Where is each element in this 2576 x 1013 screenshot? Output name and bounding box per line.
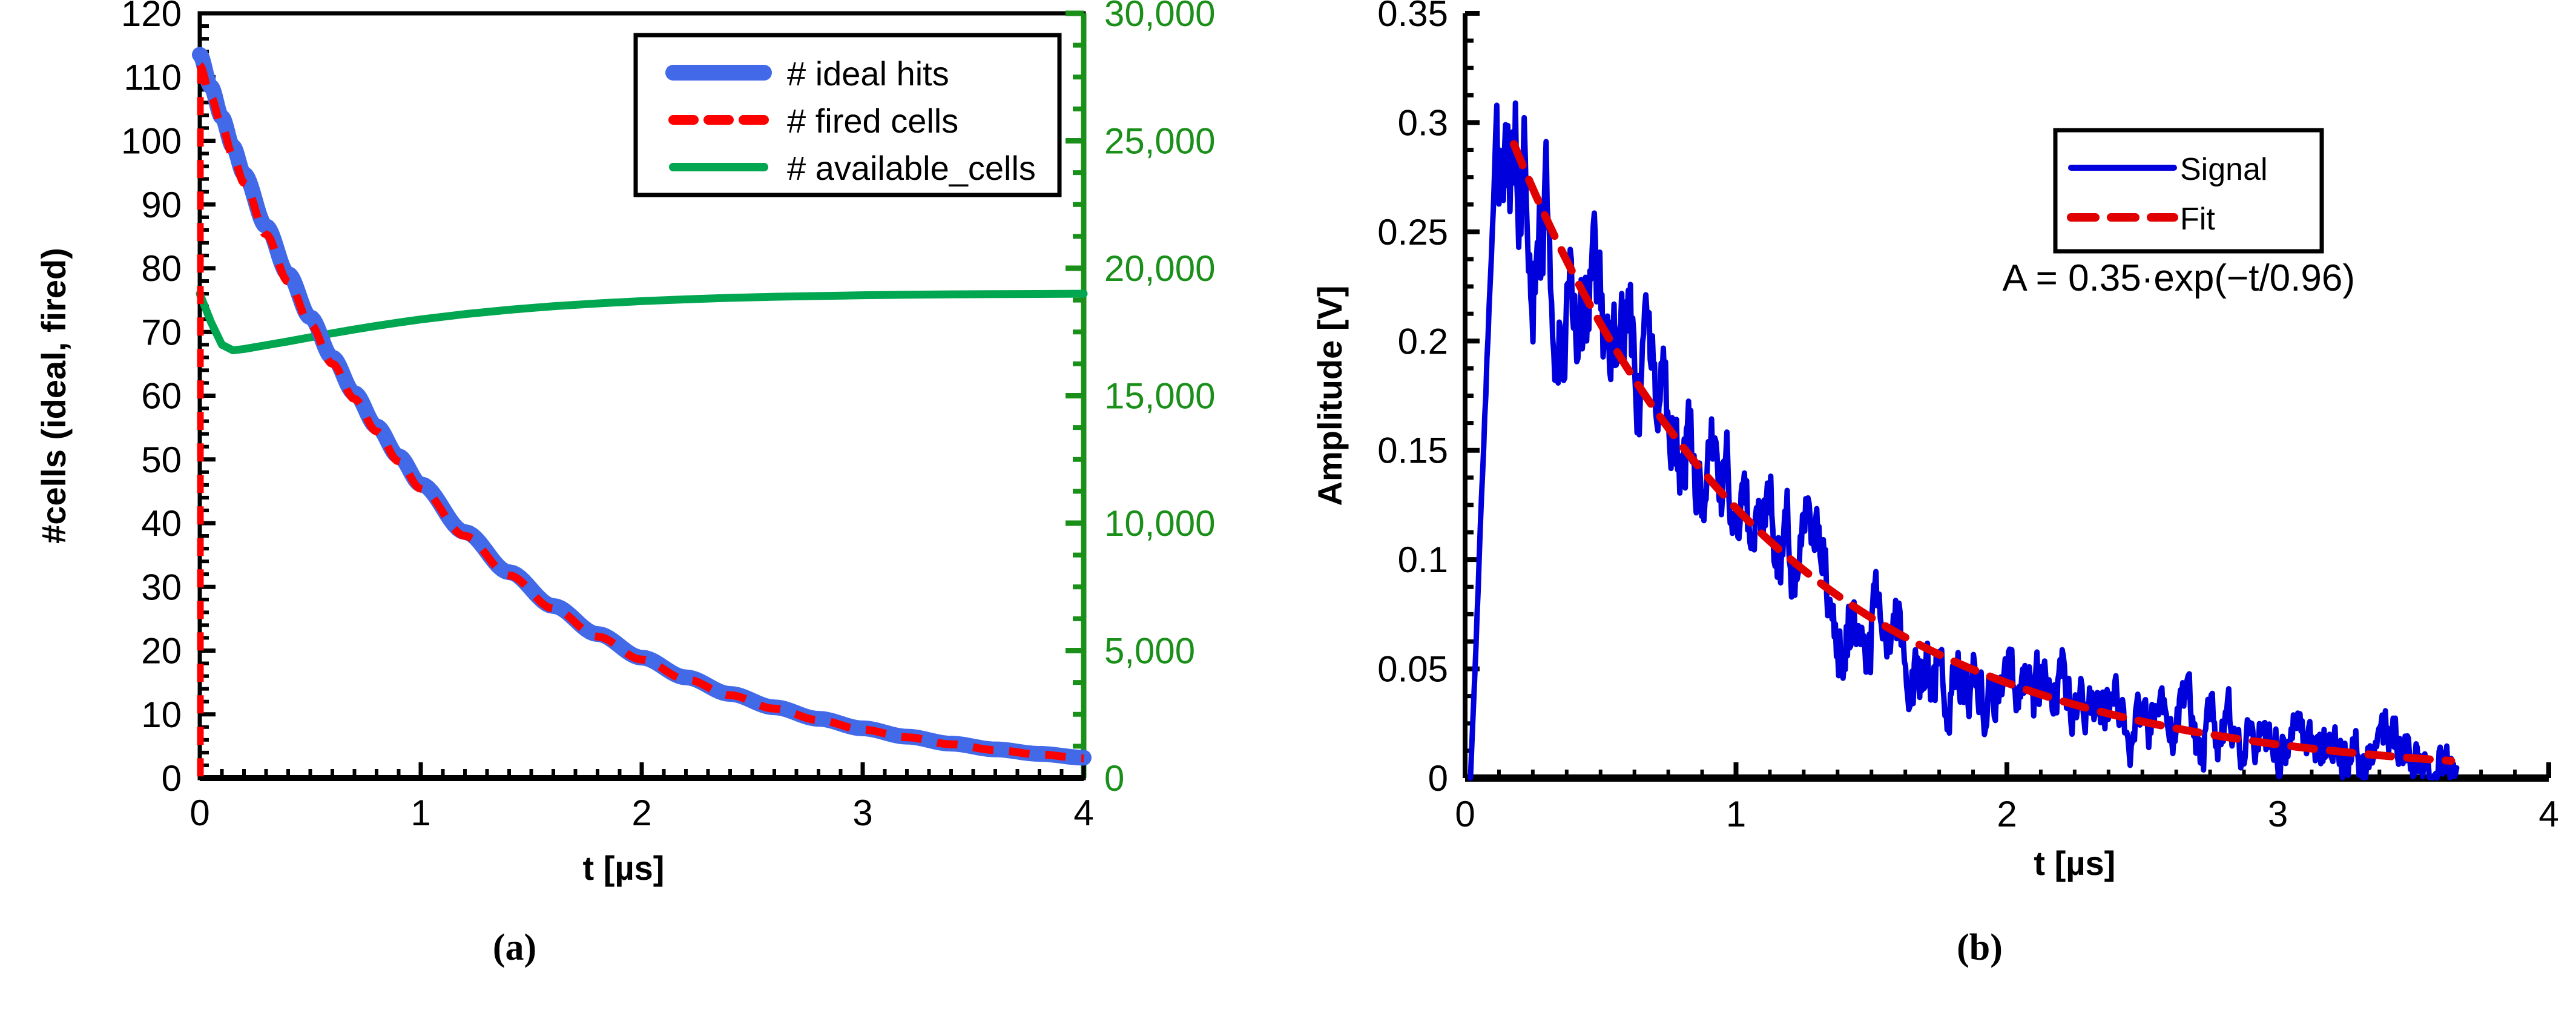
x-axis-title: t [µs] [583,849,665,887]
y-axis-tick-label: 0.2 [1398,321,1448,361]
x-axis-tick-label: 2 [631,793,651,833]
y-axis-tick-label: 0.35 [1377,0,1448,34]
y-axis-tick-label: 50 [141,440,182,480]
y-axis-tick-label: 0.3 [1398,102,1448,143]
x-axis-tick-label: 2 [1997,794,2017,834]
y-axis-tick-label: 40 [141,503,182,544]
figure-container: 010203040506070809010011012005,00010,000… [0,0,2576,1013]
y-axis-tick-label: 0 [162,758,182,799]
right-axis-tick-label: 10,000 [1104,503,1216,544]
x-axis-title: t [µs] [2034,844,2115,882]
chart-b-svg: 00.050.10.150.20.250.30.3501234Amplitude… [1283,0,2576,908]
right-axis-tick-label: 25,000 [1104,121,1216,162]
panel-b-caption: (b) [1889,926,2070,969]
x-axis-tick-label: 1 [1726,794,1746,834]
y-axis-tick-label: 120 [121,0,182,34]
x-axis-tick-label: 1 [410,793,430,833]
y-axis-tick-label: 80 [141,248,182,289]
panel-a-caption: (a) [424,926,605,969]
y-axis-tick-label: 70 [141,312,182,352]
panel-a-chart: 010203040506070809010011012005,00010,000… [0,0,1271,1013]
x-axis-tick-label: 3 [2268,794,2288,834]
legend-label-0: # ideal hits [787,54,949,93]
panel-b-chart: 00.050.10.150.20.250.30.3501234Amplitude… [1283,0,2576,1013]
legend-label-2: # available_cells [787,149,1036,187]
right-axis-tick-label: 5,000 [1104,631,1195,671]
y-axis-tick-label: 10 [141,695,182,735]
y-axis-tick-label: 0.15 [1377,431,1448,471]
y-axis-tick-label: 90 [141,185,182,225]
y-axis-tick-label: 0 [1428,758,1448,799]
right-axis-tick-label: 30,000 [1104,0,1216,34]
y-axis-tick-label: 110 [124,57,182,97]
x-axis-tick-label: 0 [189,793,209,833]
y-axis-tick-label: 100 [121,121,182,162]
y-axis-title: Amplitude [V] [1311,286,1349,506]
right-axis-tick-label: 20,000 [1104,248,1216,289]
right-axis-tick-label: 0 [1104,758,1124,799]
x-axis-tick-label: 4 [2538,794,2558,834]
fit-equation-annotation: A = 0.35·exp(−t/0.96) [2003,257,2356,299]
y-axis-tick-label: 20 [141,631,182,671]
y-axis-title: #cells (ideal, fired) [35,248,73,544]
right-axis-tick-label: 15,000 [1104,376,1216,417]
y-axis-tick-label: 30 [141,567,182,607]
x-axis-tick-label: 3 [852,793,872,833]
y-axis-tick-label: 0.25 [1377,212,1448,252]
chart-a-plot-area: 010203040506070809010011012005,00010,000… [35,0,1216,887]
chart-a-svg: 010203040506070809010011012005,00010,000… [0,0,1271,908]
x-axis-tick-label: 4 [1073,793,1093,833]
chart-b-legend: SignalFit [2055,130,2322,251]
legend-label-1: # fired cells [787,102,958,140]
y-axis-tick-label: 60 [141,376,182,417]
legend-label-1: Fit [2180,202,2215,237]
chart-a-legend: # ideal hits# fired cells# available_cel… [636,35,1059,195]
chart-b-plot-area: 00.050.10.150.20.250.30.3501234Amplitude… [1311,0,2559,882]
x-axis-tick-label: 0 [1455,794,1475,834]
legend-label-0: Signal [2180,152,2268,187]
y-axis-tick-label: 0.1 [1398,539,1448,580]
y-axis-tick-label: 0.05 [1377,649,1448,690]
